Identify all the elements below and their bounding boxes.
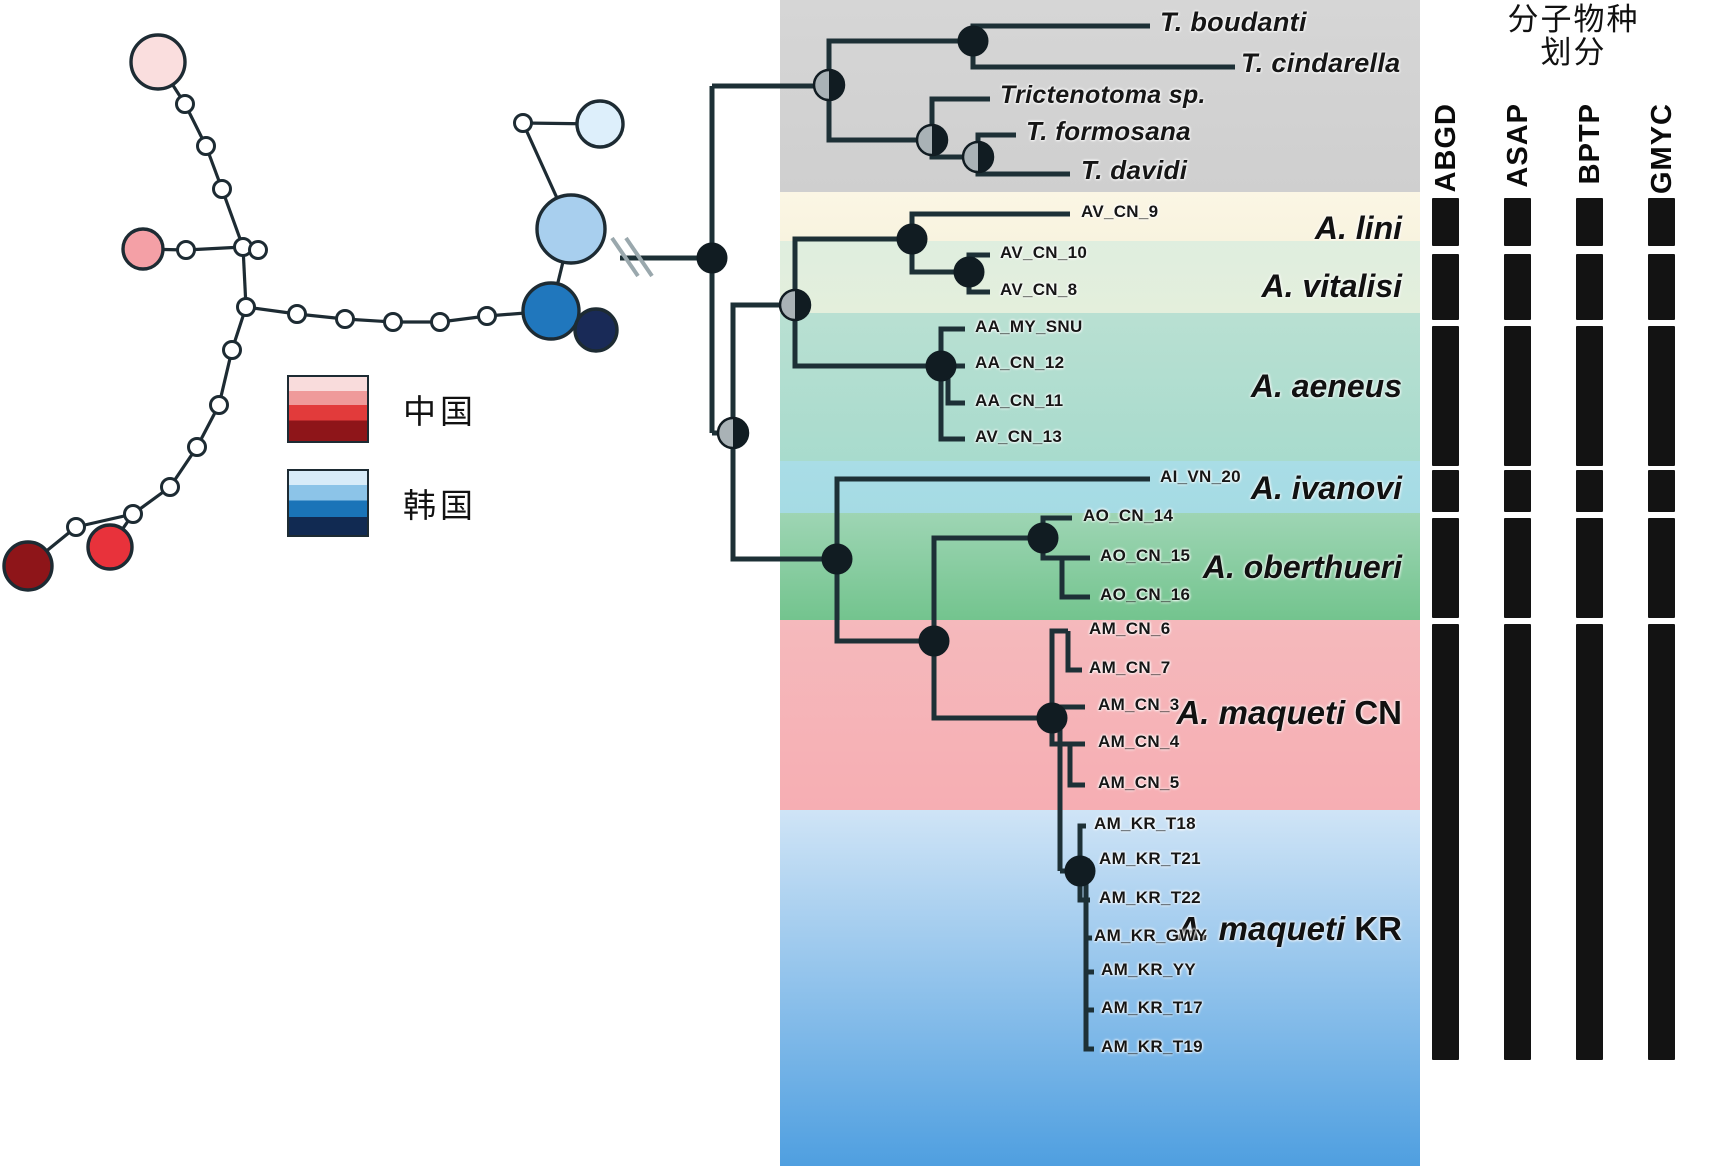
tip-label-am_cn_7: AM_CN_7 bbox=[1089, 658, 1170, 678]
delimitation-bar bbox=[1504, 326, 1531, 466]
tip-label-t_boudanti: T. boudanti bbox=[1160, 7, 1307, 38]
tip-label-t_davidi: T. davidi bbox=[1081, 155, 1187, 186]
support-node-half bbox=[963, 142, 993, 172]
delimitation-bar bbox=[1504, 198, 1531, 246]
support-node-full bbox=[958, 26, 988, 56]
support-node-full bbox=[697, 243, 727, 273]
delimitation-bar bbox=[1576, 624, 1603, 1060]
tip-label-av_cn_9: AV_CN_9 bbox=[1081, 202, 1158, 222]
delimitation-bar bbox=[1432, 254, 1459, 320]
support-node-full bbox=[954, 257, 984, 287]
delimitation-header-abgd: ABGD bbox=[1430, 103, 1463, 192]
support-node-full bbox=[926, 351, 956, 381]
delimitation-bar bbox=[1504, 470, 1531, 512]
support-node-full bbox=[919, 626, 949, 656]
tip-label-aa_my_snu: AA_MY_SNU bbox=[975, 317, 1083, 337]
support-node-full bbox=[897, 224, 927, 254]
tip-label-t_formosana: T. formosana bbox=[1026, 116, 1191, 147]
delimitation-bar bbox=[1648, 470, 1675, 512]
delimitation-bar bbox=[1648, 326, 1675, 466]
phylogenetic-figure: 中国 韩国 A. liniA. vitalisiA. aeneusA. ivan… bbox=[0, 0, 1727, 1166]
tip-label-aa_cn_12: AA_CN_12 bbox=[975, 353, 1064, 373]
tip-label-ao_cn_14: AO_CN_14 bbox=[1083, 506, 1173, 526]
delimitation-title-line2: 划分 bbox=[1420, 37, 1727, 70]
tip-label-t_sp: Trictenotoma sp. bbox=[1000, 81, 1206, 110]
tip-label-am_kr_t22: AM_KR_T22 bbox=[1099, 888, 1201, 908]
phylogenetic-tree bbox=[0, 0, 1420, 1166]
tip-label-am_kr_gwy: AM_KR_GWY bbox=[1094, 926, 1207, 946]
species-delimitation-panel: 分子物种 划分 ABGDASAPBPTPGMYC bbox=[1420, 0, 1727, 1166]
tip-label-am_cn_4: AM_CN_4 bbox=[1098, 732, 1179, 752]
delimitation-bar bbox=[1504, 624, 1531, 1060]
support-node-full bbox=[1065, 856, 1095, 886]
tip-label-av_cn_13: AV_CN_13 bbox=[975, 427, 1062, 447]
delimitation-title-line1: 分子物种 bbox=[1420, 4, 1727, 37]
delimitation-bar bbox=[1576, 254, 1603, 320]
tip-label-am_kr_t19: AM_KR_T19 bbox=[1101, 1037, 1203, 1057]
delimitation-bar bbox=[1648, 624, 1675, 1060]
delimitation-bar bbox=[1576, 326, 1603, 466]
delimitation-bar bbox=[1648, 518, 1675, 618]
tip-label-ao_cn_15: AO_CN_15 bbox=[1100, 546, 1190, 566]
delimitation-bar bbox=[1504, 518, 1531, 618]
delimitation-bar bbox=[1648, 198, 1675, 246]
delimitation-bar bbox=[1432, 198, 1459, 246]
tip-label-am_cn_3: AM_CN_3 bbox=[1098, 695, 1179, 715]
tip-label-am_kr_t17: AM_KR_T17 bbox=[1101, 998, 1203, 1018]
delimitation-title: 分子物种 划分 bbox=[1420, 4, 1727, 71]
delimitation-header-gmyc: GMYC bbox=[1646, 103, 1679, 194]
delimitation-bar bbox=[1504, 254, 1531, 320]
tip-label-am_kr_yy: AM_KR_YY bbox=[1101, 960, 1196, 980]
tip-label-am_kr_t21: AM_KR_T21 bbox=[1099, 849, 1201, 869]
support-node-full bbox=[822, 544, 852, 574]
delimitation-header-asap: ASAP bbox=[1502, 103, 1535, 188]
support-node-half bbox=[814, 70, 844, 100]
support-node-half bbox=[718, 418, 748, 448]
support-node-half bbox=[917, 125, 947, 155]
tip-label-am_cn_6: AM_CN_6 bbox=[1089, 619, 1170, 639]
support-node-half bbox=[780, 290, 810, 320]
tip-label-ai_vn_20: AI_VN_20 bbox=[1160, 467, 1241, 487]
delimitation-bar bbox=[1432, 624, 1459, 1060]
tip-label-am_kr_t18: AM_KR_T18 bbox=[1094, 814, 1196, 834]
tip-label-av_cn_8: AV_CN_8 bbox=[1000, 280, 1077, 300]
delimitation-bar bbox=[1432, 326, 1459, 466]
delimitation-header-bptp: BPTP bbox=[1574, 103, 1607, 184]
delimitation-bar bbox=[1432, 470, 1459, 512]
tree-support-nodes bbox=[697, 26, 1095, 886]
tip-label-ao_cn_16: AO_CN_16 bbox=[1100, 585, 1190, 605]
support-node-full bbox=[1028, 523, 1058, 553]
delimitation-bar bbox=[1576, 470, 1603, 512]
tip-label-av_cn_10: AV_CN_10 bbox=[1000, 243, 1087, 263]
support-node-full bbox=[1037, 703, 1067, 733]
delimitation-bar bbox=[1432, 518, 1459, 618]
tip-label-aa_cn_11: AA_CN_11 bbox=[975, 391, 1063, 411]
tip-label-am_cn_5: AM_CN_5 bbox=[1098, 773, 1179, 793]
delimitation-bar bbox=[1576, 518, 1603, 618]
delimitation-bar bbox=[1576, 198, 1603, 246]
delimitation-bar bbox=[1648, 254, 1675, 320]
tip-label-t_cindarella: T. cindarella bbox=[1241, 48, 1400, 79]
